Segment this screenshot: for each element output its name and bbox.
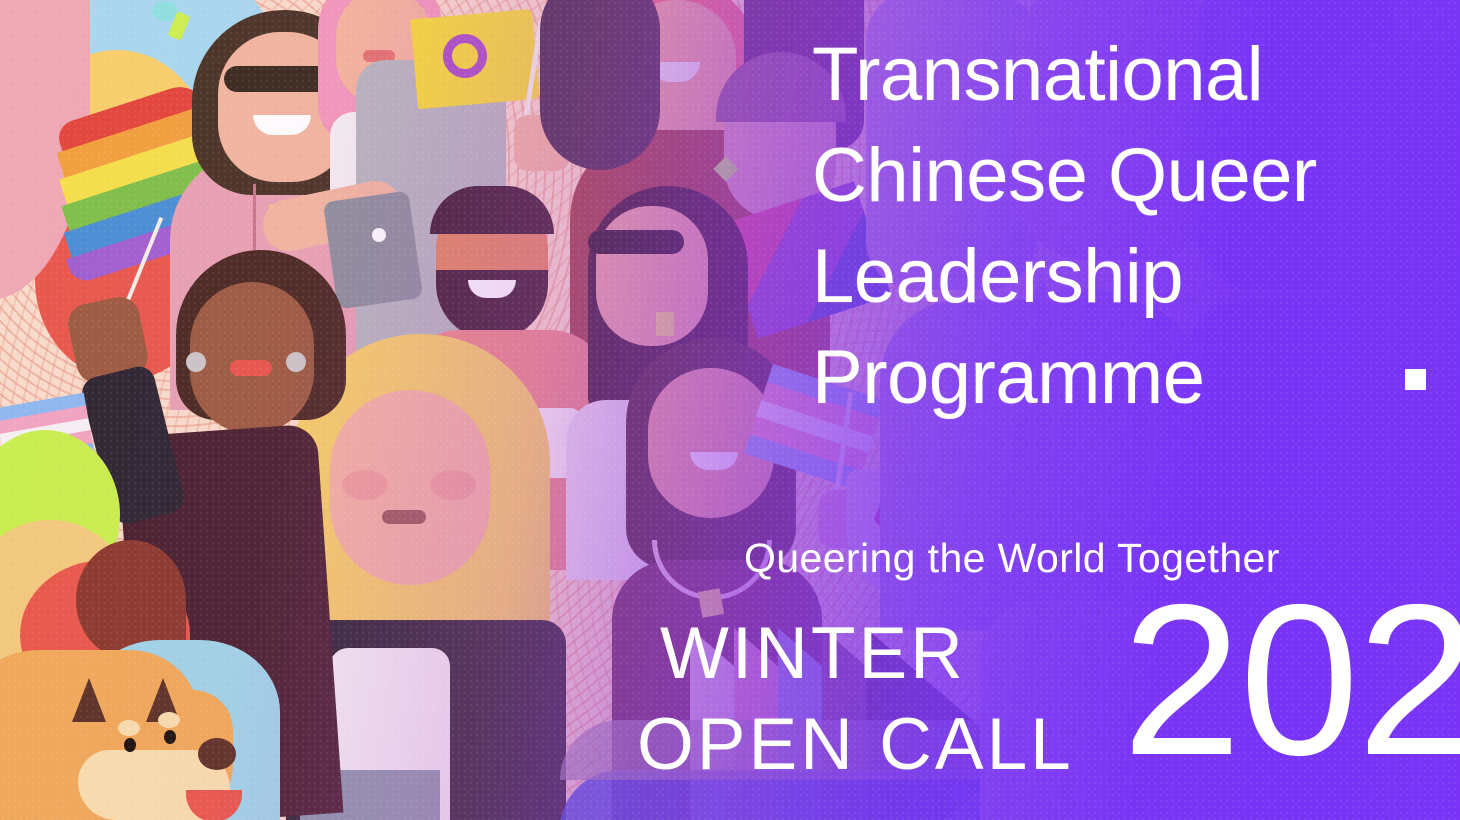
page-title-line-4: Programme bbox=[812, 341, 1205, 415]
square-period-icon bbox=[1405, 369, 1426, 390]
call-line-2: OPEN CALL bbox=[637, 703, 1074, 786]
page-title-line-2: Chinese Queer bbox=[812, 139, 1317, 213]
poster-text-layer: Transnational Chinese Queer Leadership P… bbox=[0, 0, 1460, 820]
page-title-line-1: Transnational bbox=[812, 38, 1263, 112]
page-title-line-3: Leadership bbox=[812, 240, 1183, 314]
year-label: 2021 bbox=[1122, 592, 1460, 768]
poster-canvas: WIN bbox=[0, 0, 1460, 820]
call-line-1: WINTER bbox=[660, 612, 966, 695]
